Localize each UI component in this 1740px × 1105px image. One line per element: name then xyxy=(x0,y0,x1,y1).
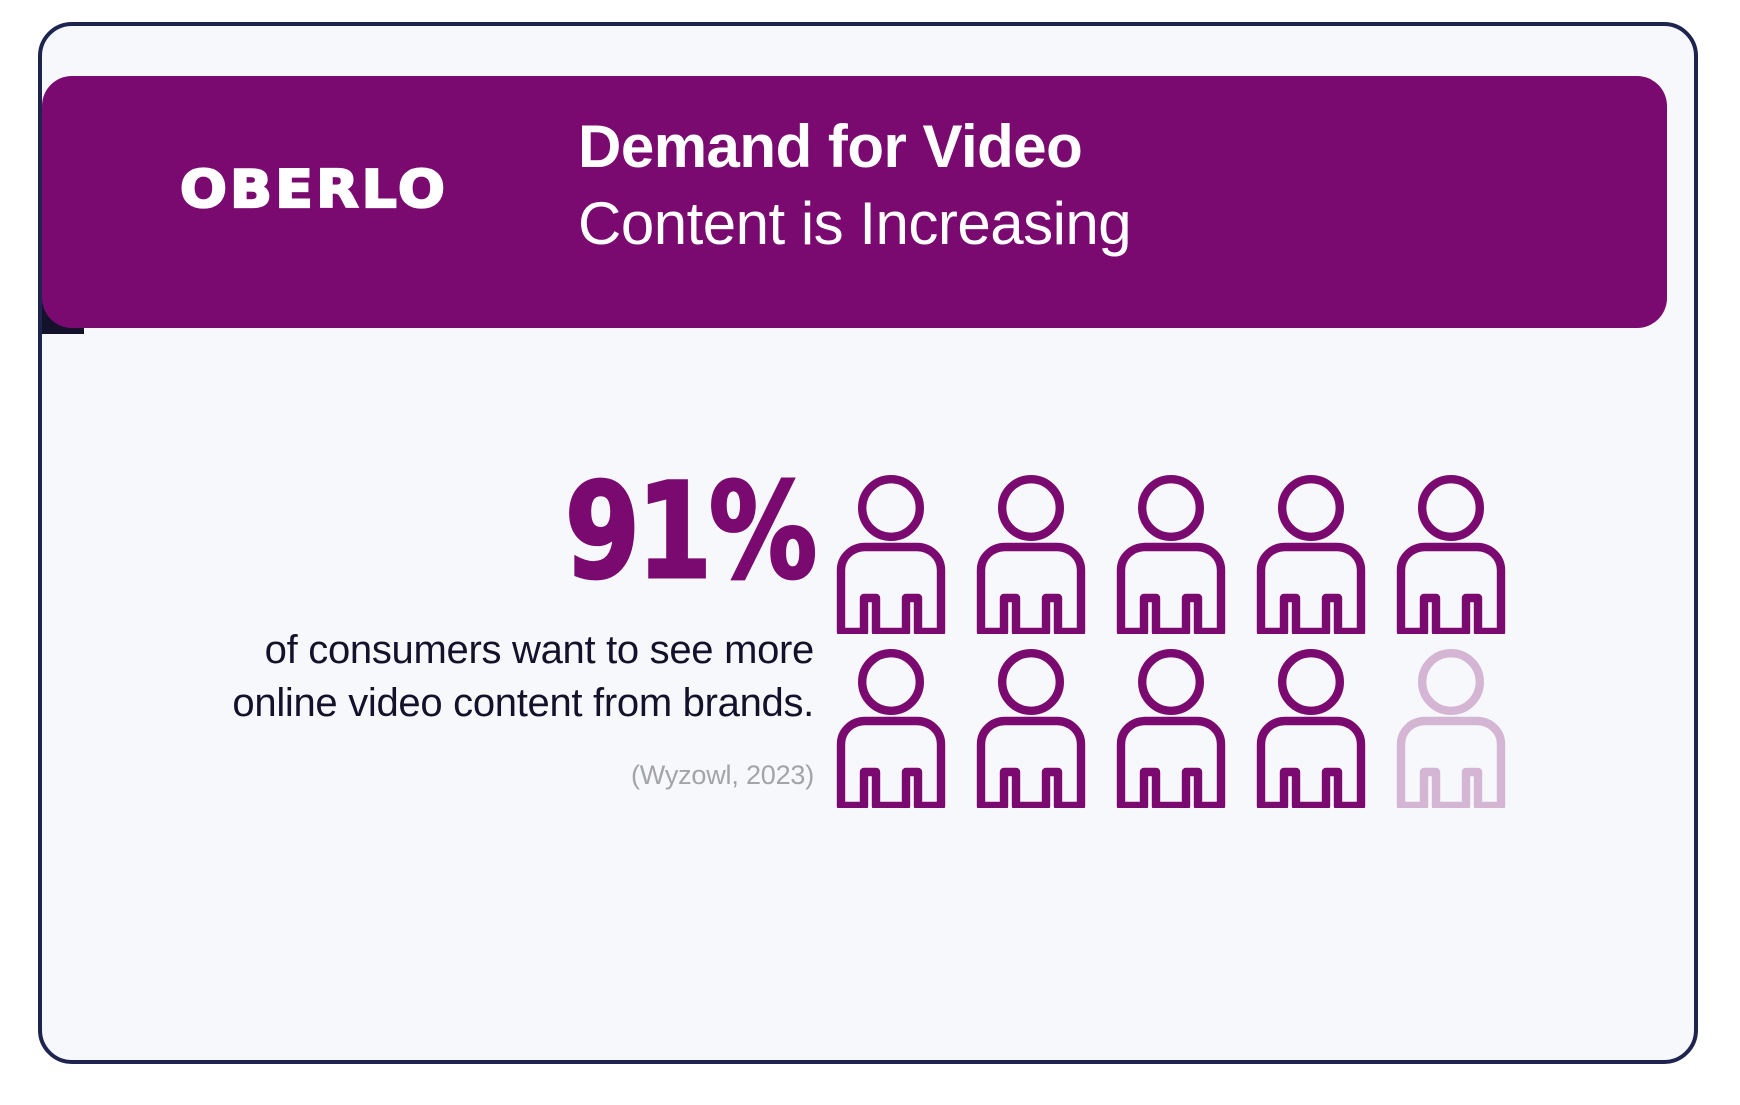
infographic-root: OBERLO Demand for Video Content is Incre… xyxy=(0,0,1740,1105)
title-line-primary: Demand for Video xyxy=(578,112,1131,183)
person-icon xyxy=(829,474,953,634)
pictogram-chart xyxy=(829,474,1529,808)
page-title: Demand for Video Content is Increasing xyxy=(578,112,1131,260)
person-icon xyxy=(1109,474,1233,634)
person-icon xyxy=(829,648,953,808)
statistic-description: of consumers want to see more online vid… xyxy=(194,624,814,730)
person-icon xyxy=(1389,474,1513,634)
content-area: 91% of consumers want to see more online… xyxy=(84,356,1700,1086)
person-icon xyxy=(969,474,1093,634)
statistic-block: 91% of consumers want to see more online… xyxy=(194,466,814,791)
person-icon xyxy=(1249,648,1373,808)
pictogram-row xyxy=(829,474,1529,634)
person-icon xyxy=(1249,474,1373,634)
pictogram-row xyxy=(829,648,1529,808)
oberlo-logo: OBERLO xyxy=(180,164,448,216)
person-icon xyxy=(1109,648,1233,808)
title-line-secondary: Content is Increasing xyxy=(578,189,1131,260)
statistic-source: (Wyzowl, 2023) xyxy=(194,760,814,791)
infographic-card: OBERLO Demand for Video Content is Incre… xyxy=(38,22,1698,1064)
person-icon-faded xyxy=(1389,648,1513,808)
person-icon xyxy=(969,648,1093,808)
statistic-value: 91% xyxy=(306,466,814,598)
